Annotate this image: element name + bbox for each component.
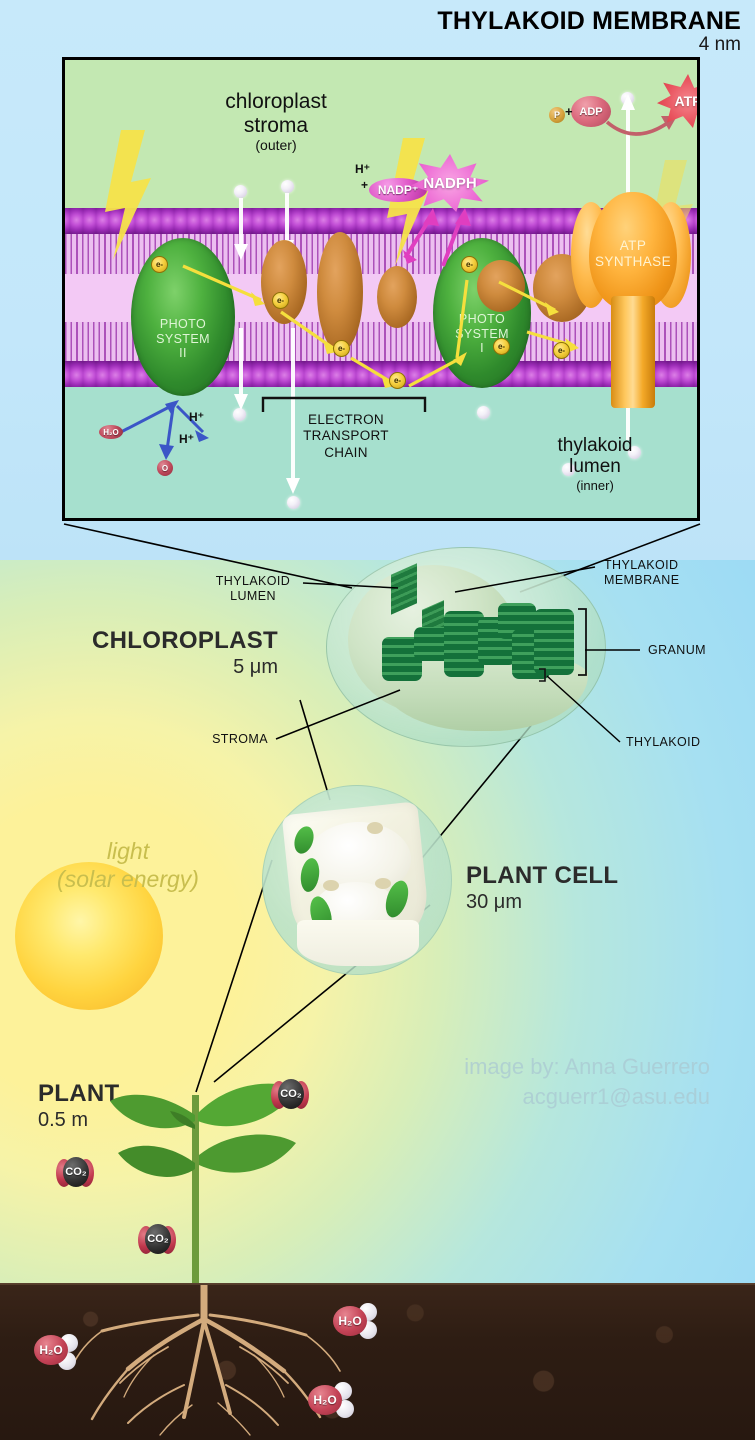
leaf-lower-left — [118, 1146, 195, 1177]
seedling-illustration — [90, 1055, 390, 1305]
etc-carrier-2[interactable] — [317, 232, 363, 352]
light-label-line2: (solar energy) — [18, 866, 238, 894]
chloroplast-title: CHLOROPLAST — [78, 627, 278, 655]
h2o-molecule-2: H₂O — [34, 1332, 78, 1368]
plant-cell-title-block: PLANT CELL 30 μm — [466, 862, 618, 914]
adjacent-cell — [297, 920, 419, 966]
co2-label-1: CO₂ — [280, 1088, 301, 1100]
label-thylakoid-membrane-l1: THYLAKOID — [604, 558, 710, 573]
photosystem-ii-line3: II — [156, 346, 210, 361]
electron-chip-etc2: e- — [333, 340, 350, 357]
etc-label-line1: ELECTRON — [273, 412, 419, 428]
proton-dot-stroma-2 — [281, 180, 294, 193]
title-scale-text: 4 nm — [437, 35, 741, 56]
lumen-label-line1: thylakoid — [558, 435, 633, 456]
watermark-line2: acguerr1@asu.edu — [370, 1082, 710, 1112]
phosphate-plus-sign: + — [565, 104, 573, 119]
chloroplast-illustration — [326, 547, 606, 747]
atp-synthase-line2: SYNTHASE — [589, 254, 677, 270]
soil-region — [0, 1285, 755, 1440]
h2o-label-2: H₂O — [39, 1343, 62, 1357]
photosystem-ii-line1: PHOTO — [156, 317, 210, 332]
lumen-label-line2: lumen — [569, 456, 621, 477]
electron-chip-label-6: e- — [498, 342, 505, 351]
etc-carrier-4[interactable] — [477, 260, 525, 312]
organelle-2 — [375, 878, 391, 889]
atp-synthase-head[interactable]: ATP SYNTHASE — [589, 192, 677, 310]
label-thylakoid-lumen-l2: LUMEN — [203, 589, 303, 604]
h2o-label-1: H₂O — [338, 1314, 361, 1328]
electron-chip-label-2: e- — [277, 296, 284, 305]
lumen-label-sub: (inner) — [505, 479, 685, 494]
page-title: THYLAKOID MEMBRANE 4 nm — [437, 8, 741, 56]
nadph-label: NADPH — [423, 175, 476, 192]
photosystem-ii[interactable]: PHOTO SYSTEM II — [131, 238, 235, 396]
photosystem-i-line1: PHOTO — [455, 312, 509, 327]
proton-dot-stroma-3 — [621, 92, 634, 105]
plant-cell-title: PLANT CELL — [466, 862, 618, 890]
electron-chip-label-4: e- — [394, 376, 401, 385]
oxygen-molecule-label: O — [162, 464, 168, 473]
proton-label-1: H⁺ — [189, 410, 204, 424]
electron-chip-label-1: e- — [156, 260, 163, 269]
atp-synthase-line1: ATP — [589, 238, 677, 254]
water-molecule: H₂O — [99, 425, 123, 439]
etc-label: ELECTRON TRANSPORT CHAIN — [273, 412, 419, 461]
label-granum: GRANUM — [648, 643, 738, 658]
h2o-molecule-3: H₂O — [308, 1382, 352, 1418]
label-stroma: STROMA — [200, 732, 280, 747]
electron-chip-psii: e- — [151, 256, 168, 273]
watermark: image by: Anna Guerrero acguerr1@asu.edu — [370, 1052, 710, 1111]
chloroplast-scale: 5 μm — [78, 656, 278, 679]
leaf-lower-right — [199, 1134, 296, 1172]
co2-molecule-1: CO₂ — [271, 1077, 311, 1115]
co2-label-3: CO₂ — [147, 1233, 168, 1245]
proton-dot-lumen-1 — [233, 408, 246, 421]
chloroplast-title-block: CHLOROPLAST 5 μm — [78, 627, 278, 679]
stroma-label: chloroplast stroma (outer) — [161, 90, 391, 154]
etc-carrier-1[interactable] — [261, 240, 307, 324]
label-thylakoid: THYLAKOID — [626, 735, 722, 750]
light-label: light (solar energy) — [18, 838, 238, 893]
plant-cell-illustration — [262, 785, 452, 975]
h2o-label-3: H₂O — [313, 1393, 336, 1407]
nadp-plus-sign: + — [361, 178, 368, 192]
electron-chip-fd1: e- — [493, 338, 510, 355]
watermark-line1: image by: Anna Guerrero — [370, 1052, 710, 1082]
etc-carrier-3[interactable] — [377, 266, 417, 328]
co2-molecule-3: CO₂ — [138, 1222, 178, 1260]
co2-molecule-2: CO₂ — [56, 1155, 96, 1193]
oxygen-molecule: O — [157, 460, 173, 476]
plant-cell-scale: 30 μm — [466, 891, 618, 914]
lumen-label: thylakoid lumen (inner) — [505, 435, 685, 493]
light-label-line1: light — [18, 838, 238, 866]
proton-dot-stroma-1 — [234, 185, 247, 198]
photosystem-i[interactable]: PHOTO SYSTEM I — [433, 238, 531, 388]
phosphate-molecule: P — [549, 107, 565, 123]
electron-chip-label-3: e- — [338, 344, 345, 353]
photosystem-ii-line2: SYSTEM — [156, 332, 210, 347]
atp-label-text: ATP — [675, 93, 700, 109]
atp-synthase-stalk — [611, 296, 655, 408]
nadp-proton-label: H⁺ — [355, 162, 370, 176]
title-main-text: THYLAKOID MEMBRANE — [437, 8, 741, 34]
label-thylakoid-lumen-l1: THYLAKOID — [203, 574, 303, 589]
stroma-label-line2: stroma — [244, 114, 308, 137]
nadp-plus-molecule: NADP⁺ — [369, 178, 427, 202]
proton-dot-lumen-2 — [287, 496, 300, 509]
label-thylakoid-lumen: THYLAKOID LUMEN — [203, 574, 303, 604]
organelle-1 — [323, 880, 339, 891]
electron-chip-psi: e- — [461, 256, 478, 273]
diagram-canvas: light (solar energy) THYLAKOID MEMBRANE … — [0, 0, 755, 1440]
label-thylakoid-membrane-l2: MEMBRANE — [604, 573, 710, 588]
electron-chip-label-7: e- — [558, 346, 565, 355]
stroma-label-line1: chloroplast — [225, 90, 327, 113]
water-molecule-label: H₂O — [103, 428, 119, 437]
adp-molecule: ADP — [571, 96, 611, 127]
thylakoid-membrane-panel: PHOTO SYSTEM II PHOTO SYSTEM I ATP SY — [62, 57, 700, 521]
electron-chip-label-5: e- — [466, 260, 473, 269]
stroma-label-sub: (outer) — [161, 138, 391, 154]
adp-label: ADP — [579, 106, 602, 118]
label-thylakoid-membrane: THYLAKOID MEMBRANE — [604, 558, 710, 588]
organelle-3 — [367, 822, 383, 834]
etc-label-line2: TRANSPORT — [273, 428, 419, 444]
h2o-molecule-1: H₂O — [333, 1303, 377, 1339]
electron-chip-etc3: e- — [389, 372, 406, 389]
etc-label-line3: CHAIN — [273, 445, 419, 461]
granum-bracket — [326, 547, 606, 747]
electron-chip-fd2: e- — [553, 342, 570, 359]
electron-chip-etc1: e- — [272, 292, 289, 309]
co2-label-2: CO₂ — [65, 1166, 86, 1178]
proton-dot-lumen-3 — [477, 406, 490, 419]
proton-label-2: H⁺ — [179, 432, 194, 446]
phosphate-label: P — [554, 110, 560, 120]
